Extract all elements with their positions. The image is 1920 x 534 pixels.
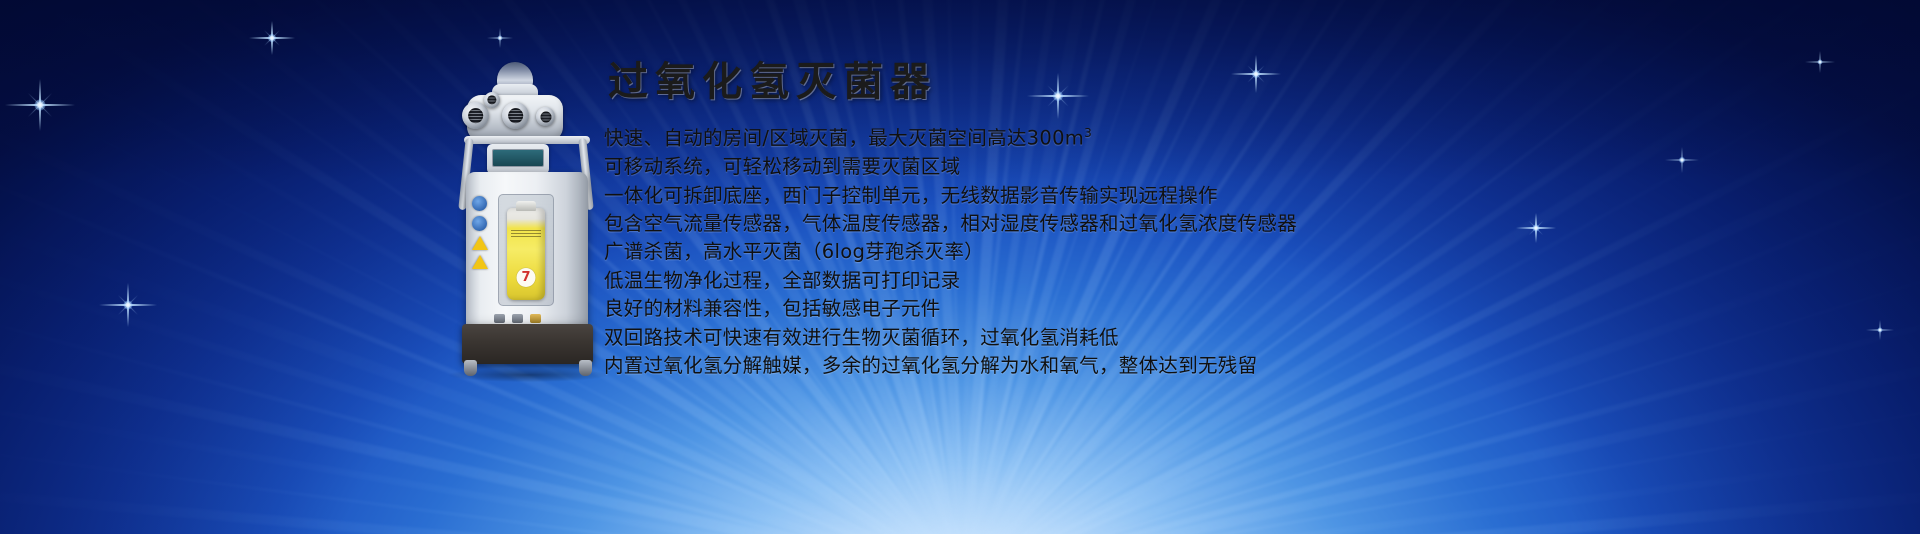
certification-icon [472,196,487,211]
nozzle-icon [484,92,500,108]
feature-item: 包含空气流量传感器，气体温度传感器，相对湿度传感器和过氧化氢浓度传感器 [604,210,1894,238]
banner-content: 过氧化氢灭菌器 快速、自动的房间/区域灭菌，最大灭菌空间高达300m3可移动系统… [604,58,1894,380]
superscript: 3 [1084,126,1092,140]
bottle-label [511,230,541,237]
certification-icon [472,216,487,231]
bottle-number-badge: 7 [517,268,536,287]
nozzle-icon [462,102,489,129]
product-image-sterilizer: 7 [440,62,615,374]
feature-item: 双回路技术可快速有效进行生物灭菌循环，过氧化氢消耗低 [604,324,1894,352]
handle-bar [464,136,590,144]
front-controls [494,312,558,324]
caster-wheel [579,360,592,376]
control-panel [487,144,549,174]
warning-sticker-group [472,196,489,274]
feature-item: 可移动系统，可轻松移动到需要灭菌区域 [604,153,1894,181]
feature-item: 低温生物净化过程，全部数据可打印记录 [604,267,1894,295]
page-title: 过氧化氢灭菌器 [608,58,1894,105]
detachable-base [462,324,593,364]
warning-triangle-icon [472,255,488,269]
feature-item: 一体化可拆卸底座，西门子控制单元，无线数据影音传输实现远程操作 [604,182,1894,210]
bottle-window: 7 [498,194,554,306]
machine-body: 7 [466,172,588,328]
nozzle-icon [536,107,555,126]
display-screen [492,149,544,167]
bottle-cap [516,201,536,211]
warning-triangle-icon [472,236,488,250]
nozzle-icon [502,102,529,129]
feature-item: 内置过氧化氢分解触媒，多余的过氧化氢分解为水和氧气，整体达到无残留 [604,352,1894,380]
feature-item: 广谱杀菌，高水平灭菌（6log芽孢杀灭率） [604,238,1894,266]
control-button [530,314,541,323]
control-button [494,314,505,323]
peroxide-bottle: 7 [507,208,545,300]
control-button [512,314,523,323]
feature-list: 快速、自动的房间/区域灭菌，最大灭菌空间高达300m3可移动系统，可轻松移动到需… [604,119,1894,380]
feature-item: 快速、自动的房间/区域灭菌，最大灭菌空间高达300m3 [604,119,1894,153]
product-banner: 7 过氧化氢灭菌器 快速、自动的房间/区域灭菌，最大灭菌空间高达300m3可移动… [0,0,1920,534]
feature-item: 良好的材料兼容性，包括敏感电子元件 [604,295,1894,323]
caster-wheel [464,360,477,376]
